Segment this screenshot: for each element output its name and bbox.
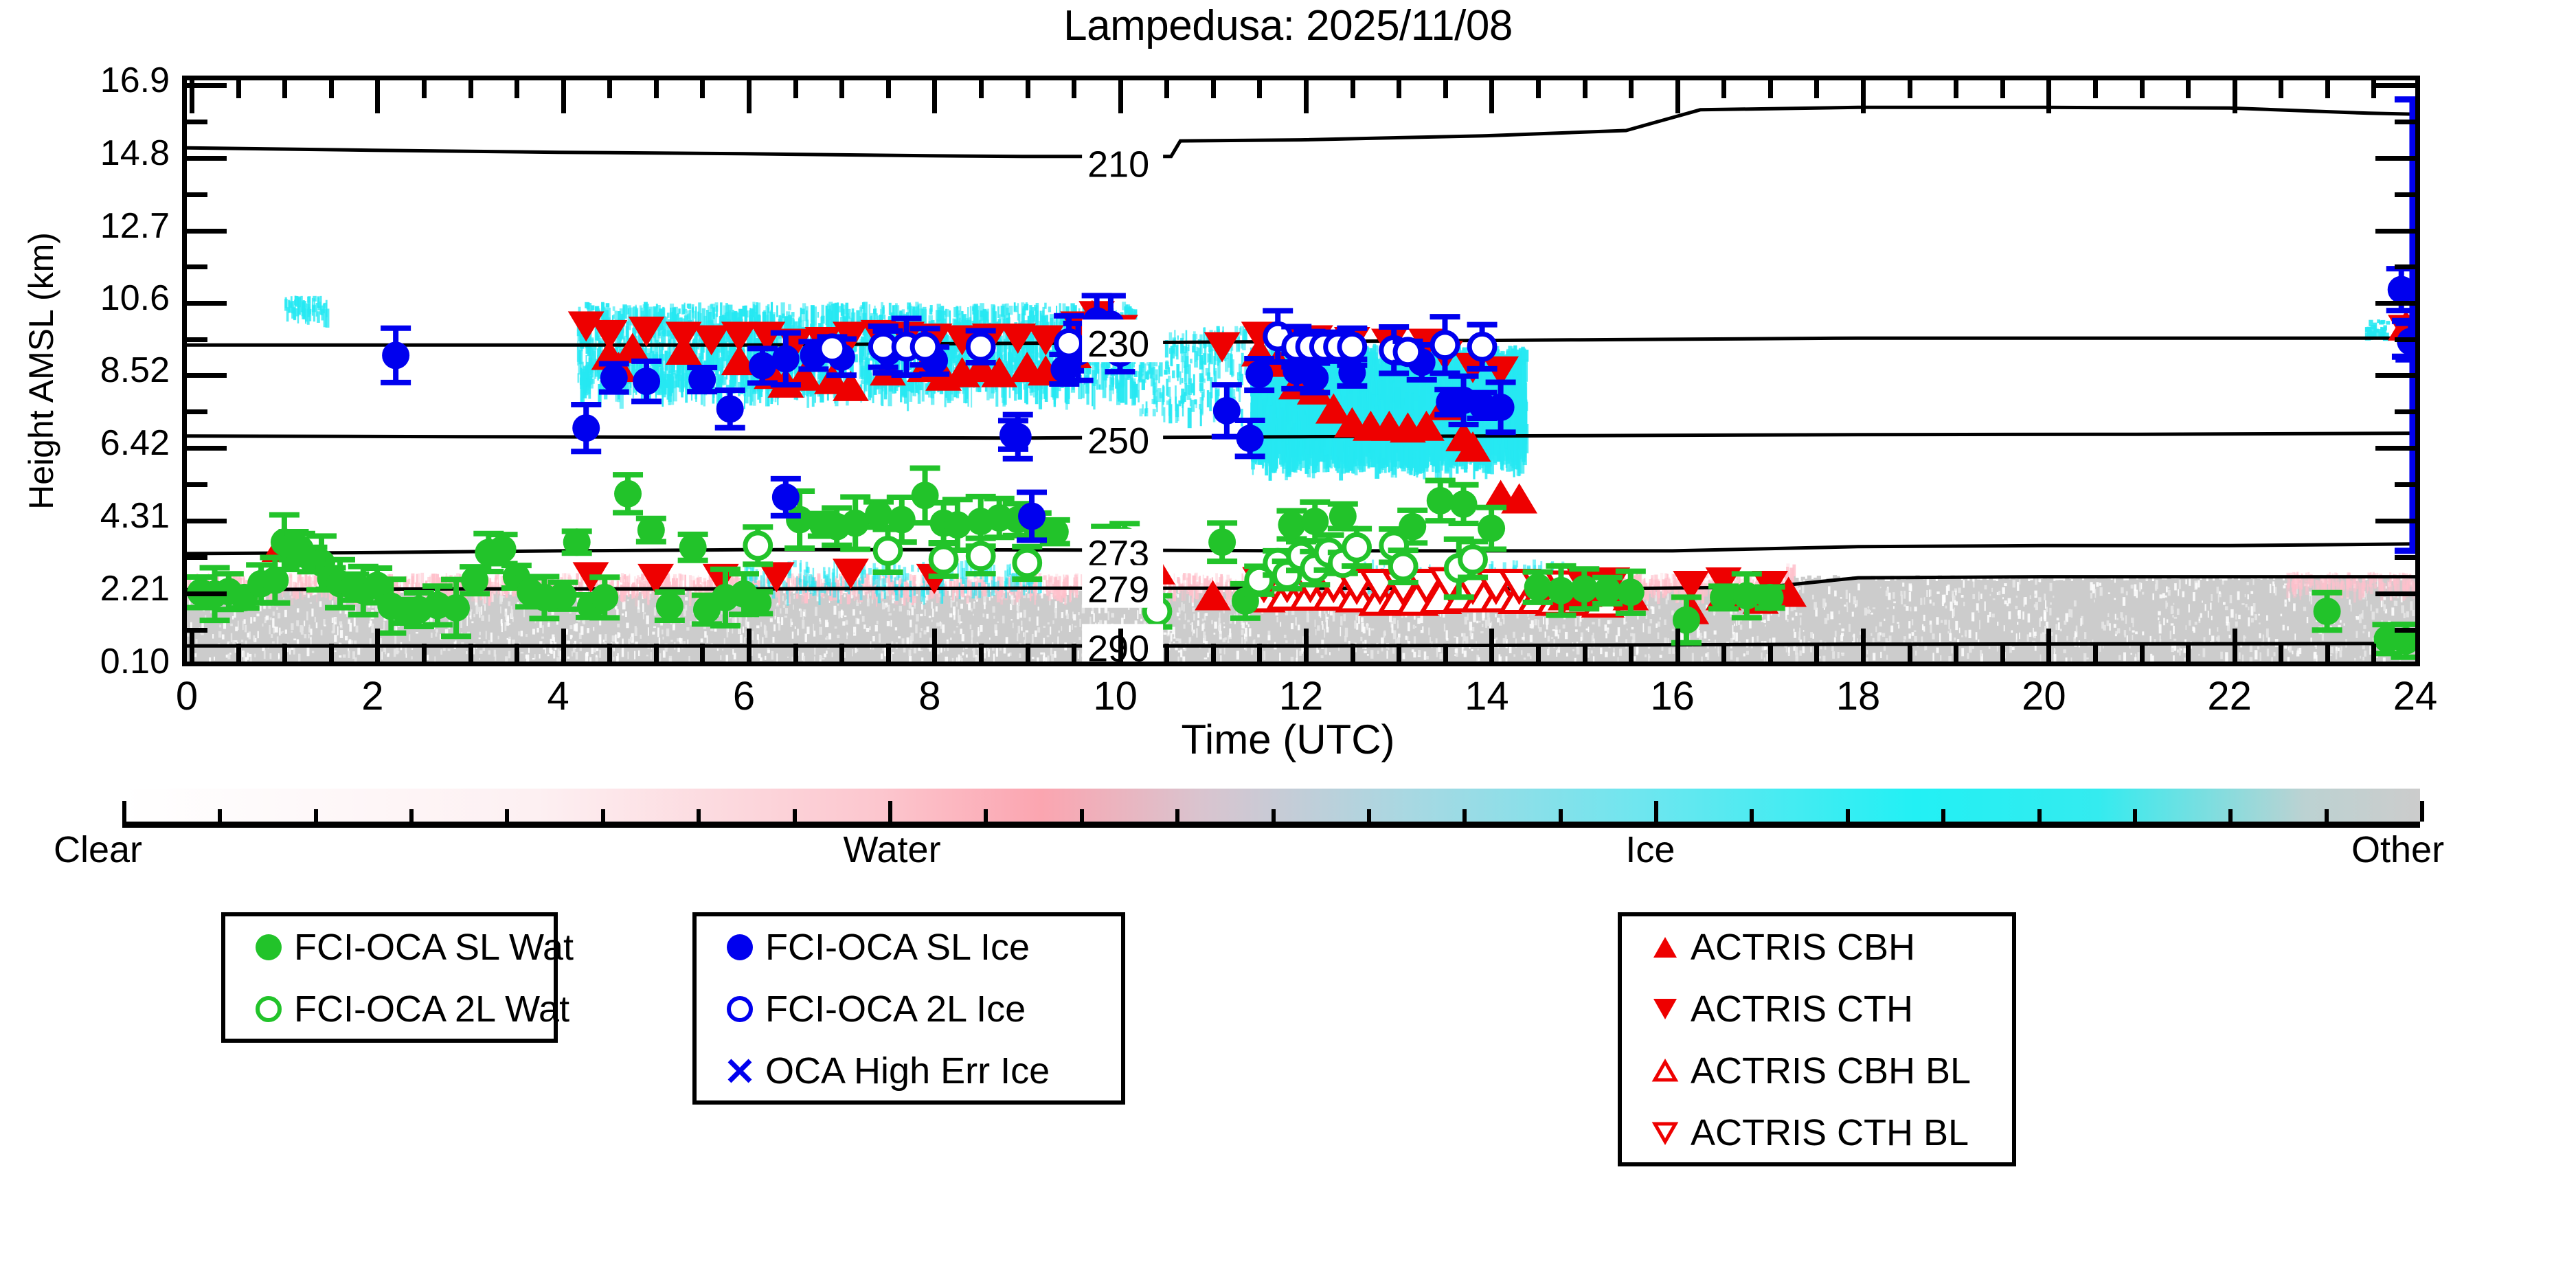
x-tick [1118, 80, 1123, 113]
x-tick-minor [468, 80, 473, 98]
x-tick-minor [515, 80, 519, 98]
marker [1395, 339, 1421, 365]
marker [744, 589, 771, 616]
x-tick-minor [282, 80, 287, 98]
colorbar-tick [1080, 809, 1084, 822]
x-tick-minor [1026, 644, 1030, 662]
x-tick-minor [700, 644, 705, 662]
x-tick-label: 18 [1836, 673, 1881, 719]
x-tick-minor [607, 644, 612, 662]
x-tick-label: 16 [1650, 673, 1695, 719]
legend-item[interactable]: ACTRIS CTH [1622, 978, 2012, 1040]
x-tick [932, 80, 937, 113]
legend-label: ACTRIS CBH [1691, 929, 1915, 966]
marker [1236, 425, 1264, 452]
x-tick-label: 10 [1093, 673, 1138, 719]
legend-item[interactable]: FCI-OCA SL Wat [225, 916, 554, 978]
y-tick-label: 0.10 [100, 641, 170, 682]
colorbar-tick [505, 809, 509, 822]
y-tick-label: 14.8 [100, 133, 170, 174]
legend-label: ACTRIS CTH [1691, 991, 1913, 1028]
legend-label: FCI-OCA 2L Ice [765, 991, 1026, 1028]
y-tick [2375, 301, 2415, 306]
x-tick [2233, 80, 2237, 113]
x-tick-minor [2325, 80, 2330, 98]
legend-label: OCA High Err Ice [765, 1052, 1050, 1089]
x-tick-minor [2186, 644, 2191, 662]
filled-circle-icon [243, 931, 294, 963]
x-tick [561, 629, 566, 662]
contour-label: 230 [1087, 324, 1149, 365]
x-tick-minor [236, 80, 241, 98]
y-tick-minor [2395, 264, 2415, 269]
colorbar-tick [888, 801, 892, 822]
colorbar-tick [1272, 809, 1276, 822]
marker [1432, 332, 1458, 358]
colorbar-tick [1175, 809, 1179, 822]
y-tick-label: 12.7 [100, 205, 170, 247]
y-tick [187, 446, 227, 451]
marker [1460, 547, 1486, 572]
y-tick-minor [2395, 192, 2415, 197]
marker [382, 341, 409, 369]
marker [944, 511, 971, 539]
colorbar-tick [218, 809, 222, 822]
x-axis-title: Time (UTC) [0, 716, 2576, 763]
marker [563, 528, 591, 556]
x-tick [1489, 80, 1494, 113]
colorbar-label: Clear [54, 828, 142, 871]
x-tick-minor [1536, 644, 1541, 662]
x-tick [747, 629, 752, 662]
x-tick-minor [700, 80, 705, 98]
x-tick-minor [654, 80, 659, 98]
x-tick-minor [886, 644, 891, 662]
x-tick-minor [2093, 80, 2098, 98]
legend-item[interactable]: ACTRIS CBH [1622, 916, 2012, 978]
y-tick [2375, 373, 2415, 378]
x-tick-minor [2093, 644, 2098, 662]
colorbar-label: Ice [1625, 828, 1675, 871]
legend-item[interactable]: FCI-OCA 2L Ice [697, 978, 1121, 1040]
x-tick-minor [1536, 80, 1541, 98]
legend-item[interactable]: OCA High Err Ice [697, 1040, 1121, 1102]
legend-label: FCI-OCA SL Ice [765, 929, 1030, 966]
y-tick [187, 301, 227, 306]
legend-label: FCI-OCA SL Wat [294, 929, 574, 966]
colorbar-tick [2228, 809, 2233, 822]
y-tick-minor [2395, 555, 2415, 560]
filled-circle-icon [714, 931, 765, 963]
y-tick [187, 519, 227, 523]
y-tick-minor [187, 337, 207, 342]
x-tick-minor [2371, 644, 2376, 662]
colorbar-tick [1462, 809, 1467, 822]
y-axis-title: Height AMSL (km) [21, 232, 61, 510]
x-tick-label: 6 [733, 673, 755, 719]
contour-label: 250 [1087, 420, 1149, 462]
x-tick-minor [1583, 80, 1588, 98]
colorbar-tick [1559, 809, 1563, 822]
marker [679, 534, 707, 561]
x-tick-minor [282, 644, 287, 662]
x-tick [2046, 80, 2051, 113]
legend-item[interactable]: ACTRIS CBH BL [1622, 1040, 2012, 1102]
x-tick-minor [1257, 644, 1262, 662]
y-tick-label: 6.42 [100, 422, 170, 464]
marker [931, 547, 956, 572]
x-tick [561, 80, 566, 113]
colorbar-axis [122, 822, 2420, 828]
x-tick [932, 629, 937, 662]
x-tick [375, 80, 380, 113]
marker [716, 395, 744, 422]
x-tick-minor [2325, 644, 2330, 662]
marker [637, 517, 665, 544]
x-tick-label: 22 [2207, 673, 2252, 719]
x-tick-minor [2371, 80, 2376, 98]
marker [1057, 330, 1082, 356]
x-tick-minor [1072, 80, 1076, 98]
y-tick-minor [2395, 628, 2415, 633]
x-tick-minor [2140, 644, 2145, 662]
x-tick-minor [1768, 80, 1773, 98]
x-tick-minor [1443, 80, 1448, 98]
y-tick-minor [187, 264, 207, 269]
x-tick-minor [2140, 80, 2145, 98]
marker [688, 366, 716, 394]
colorbar-tick [793, 809, 797, 822]
legend-item[interactable]: FCI-OCA SL Ice [697, 916, 1121, 978]
marker [968, 334, 993, 359]
marker [968, 543, 993, 569]
legend-label: FCI-OCA 2L Wat [294, 991, 569, 1028]
x-tick [2418, 80, 2420, 113]
marker [1487, 394, 1515, 421]
colorbar-tick [314, 809, 318, 822]
marker [1344, 534, 1370, 560]
marker [1004, 423, 1032, 451]
marker [772, 345, 800, 372]
y-tick-label: 16.9 [100, 60, 170, 101]
x-tick-label: 4 [547, 673, 569, 719]
marker [1301, 508, 1329, 535]
ice-legend: FCI-OCA SL Ice FCI-OCA 2L Ice OCA High E… [692, 912, 1125, 1105]
water-legend: FCI-OCA SL Wat FCI-OCA 2L Wat [221, 912, 558, 1043]
y-tick-label: 10.6 [100, 278, 170, 319]
x-tick-minor [1954, 80, 1958, 98]
x-tick-minor [2279, 80, 2283, 98]
x-tick-minor [1164, 644, 1169, 662]
x-tick-minor [422, 644, 427, 662]
x-tick [1304, 80, 1309, 113]
actris-legend: ACTRIS CBH ACTRIS CTH ACTRIS CBH BL ACTR… [1618, 912, 2016, 1166]
marker [1278, 511, 1305, 539]
marker [489, 535, 517, 563]
x-tick-minor [2279, 644, 2283, 662]
open-circle-icon [243, 993, 294, 1025]
x-tick-minor [1814, 644, 1819, 662]
marker [549, 582, 576, 609]
marker [1617, 578, 1645, 606]
open-circle-icon [714, 993, 765, 1025]
x-tick-label: 2 [361, 673, 383, 719]
y-tick-label: 8.52 [100, 350, 170, 391]
x-tick [2233, 629, 2237, 662]
legend-item[interactable]: FCI-OCA 2L Wat [225, 978, 554, 1040]
colorbar [122, 789, 2420, 822]
x-tick [1861, 629, 1866, 662]
x-tick-minor [1954, 644, 1958, 662]
y-tick [187, 664, 227, 666]
marker [614, 480, 642, 508]
x-tick-minor [1026, 80, 1030, 98]
y-tick-minor [2395, 409, 2415, 414]
x-tick-minor [979, 644, 984, 662]
x-tick [190, 629, 194, 662]
marker [1340, 334, 1365, 359]
x-tick-minor [236, 644, 241, 662]
y-tick [2375, 519, 2415, 523]
y-tick-minor [2395, 120, 2415, 124]
marker [1478, 515, 1505, 542]
y-tick [2375, 446, 2415, 451]
marker [600, 364, 628, 392]
x-tick-minor [839, 644, 844, 662]
colorbar-tick [2420, 801, 2424, 822]
y-tick-minor [187, 120, 207, 124]
marker [1015, 550, 1040, 576]
marker [912, 334, 938, 359]
marker [656, 592, 683, 620]
x-tick-minor [607, 80, 612, 98]
plot-area: 210230250273279290 [182, 76, 2420, 666]
open-down-triangle-icon [1640, 1117, 1691, 1149]
y-tick [2375, 156, 2415, 161]
marker [1018, 503, 1046, 530]
x-tick-minor [886, 80, 891, 98]
marker [572, 414, 600, 442]
x-tick-minor [1583, 644, 1588, 662]
data-series [187, 100, 2415, 657]
marker [442, 594, 470, 622]
plot-canvas: 210230250273279290 [187, 80, 2415, 662]
colorbar-tick [984, 809, 988, 822]
x-tick-minor [1814, 80, 1819, 98]
legend-item[interactable]: ACTRIS CTH BL [1622, 1102, 2012, 1164]
x-tick [1861, 80, 1866, 113]
colorbar-tick [1367, 809, 1371, 822]
y-tick-minor [187, 409, 207, 414]
x-tick [2046, 629, 2051, 662]
x-tick-minor [2000, 80, 2005, 98]
x-tick-minor [1211, 644, 1216, 662]
colorbar-tick [1846, 809, 1850, 822]
x-tick-minor [329, 80, 334, 98]
marker [1329, 503, 1357, 530]
x-tick-minor [1768, 644, 1773, 662]
x-tick-minor [1629, 80, 1634, 98]
marker [772, 484, 800, 511]
x-tick [747, 80, 752, 113]
marker [1245, 361, 1273, 388]
y-tick-minor [187, 555, 207, 560]
x-tick-minor [1257, 80, 1262, 98]
colorbar-tick [1750, 809, 1754, 822]
y-tick [187, 373, 227, 378]
chart-root: Lampedusa: 2025/11/08 Height AMSL (km) T… [0, 0, 2576, 1288]
x-tick [375, 629, 380, 662]
colorbar-label: Water [844, 828, 941, 871]
marker [591, 584, 618, 611]
x-tick-label: 24 [2393, 673, 2438, 719]
y-tick [2375, 229, 2415, 234]
x-tick-minor [1908, 80, 1912, 98]
colorbar-tick [2037, 809, 2042, 822]
page-title: Lampedusa: 2025/11/08 [0, 1, 2576, 50]
marker [1469, 334, 1495, 359]
marker [875, 538, 901, 563]
x-tick-minor [1072, 644, 1076, 662]
colorbar-tick [1654, 801, 1658, 822]
marker [820, 336, 845, 361]
colorbar-tick [697, 809, 701, 822]
open-up-triangle-icon [1640, 1055, 1691, 1087]
marker [2314, 598, 2341, 625]
x-tick-label: 12 [1279, 673, 1324, 719]
marker [1208, 528, 1236, 556]
x-tick-minor [1211, 80, 1216, 98]
x-tick-minor [1164, 80, 1169, 98]
x-tick-label: 14 [1465, 673, 1509, 719]
marker [865, 501, 892, 528]
marker [749, 352, 776, 379]
contour-label: 279 [1087, 569, 1149, 611]
colorbar-tick [2325, 809, 2329, 822]
colorbar-tick [409, 809, 414, 822]
marker [745, 533, 771, 558]
colorbar-tick [1941, 809, 1945, 822]
x-tick [2418, 629, 2420, 662]
x-tick-minor [468, 644, 473, 662]
x-tick-label: 0 [176, 673, 198, 719]
x-tick-minor [1351, 644, 1355, 662]
x-tick-label: 20 [2022, 673, 2066, 719]
x-tick-minor [1721, 644, 1726, 662]
y-tick [187, 156, 227, 161]
y-tick-minor [187, 482, 207, 487]
marker [1450, 490, 1478, 518]
x-tick-minor [2186, 80, 2191, 98]
x-tick-minor [1397, 644, 1401, 662]
x-tick [1489, 629, 1494, 662]
y-tick [2375, 83, 2415, 88]
contour-label: 210 [1087, 144, 1149, 185]
x-tick-minor [329, 644, 334, 662]
x-tick-minor [979, 80, 984, 98]
x-tick-minor [793, 644, 798, 662]
y-tick [2375, 664, 2415, 666]
x-tick [190, 80, 194, 113]
y-tick-label: 4.31 [100, 495, 170, 536]
legend-label: ACTRIS CTH BL [1691, 1114, 1969, 1151]
x-tick-minor [654, 644, 659, 662]
x-tick [1118, 629, 1123, 662]
legend-label: ACTRIS CBH BL [1691, 1052, 1971, 1089]
colorbar-tick [2133, 809, 2137, 822]
marker [1524, 574, 1552, 601]
x-tick [1675, 80, 1680, 113]
x-tick-minor [793, 80, 798, 98]
x-tick [1675, 629, 1680, 662]
y-tick [2375, 591, 2415, 596]
x-tick-minor [1908, 644, 1912, 662]
x-tick-minor [1721, 80, 1726, 98]
marker [1427, 487, 1454, 515]
marker [633, 368, 660, 395]
y-tick-minor [187, 192, 207, 197]
x-tick-minor [839, 80, 844, 98]
y-tick [187, 591, 227, 596]
y-tick-minor [2395, 337, 2415, 342]
marker [1756, 584, 1784, 611]
x-tick-minor [422, 80, 427, 98]
colorbar-label: Other [2351, 828, 2444, 871]
colorbar-tick [122, 801, 126, 822]
filled-down-triangle-icon [1640, 993, 1691, 1025]
x-tick-minor [1443, 644, 1448, 662]
y-tick [187, 229, 227, 234]
x-tick-minor [2000, 644, 2005, 662]
cross-icon [714, 1055, 765, 1087]
filled-up-triangle-icon [1640, 931, 1691, 963]
x-tick-minor [1351, 80, 1355, 98]
x-tick-minor [515, 644, 519, 662]
x-tick [1304, 629, 1309, 662]
y-tick-minor [2395, 482, 2415, 487]
x-tick-minor [1629, 644, 1634, 662]
marker [1390, 554, 1416, 579]
x-tick-label: 8 [918, 673, 940, 719]
x-tick-minor [1397, 80, 1401, 98]
colorbar-tick [601, 809, 605, 822]
y-tick-label: 2.21 [100, 568, 170, 609]
